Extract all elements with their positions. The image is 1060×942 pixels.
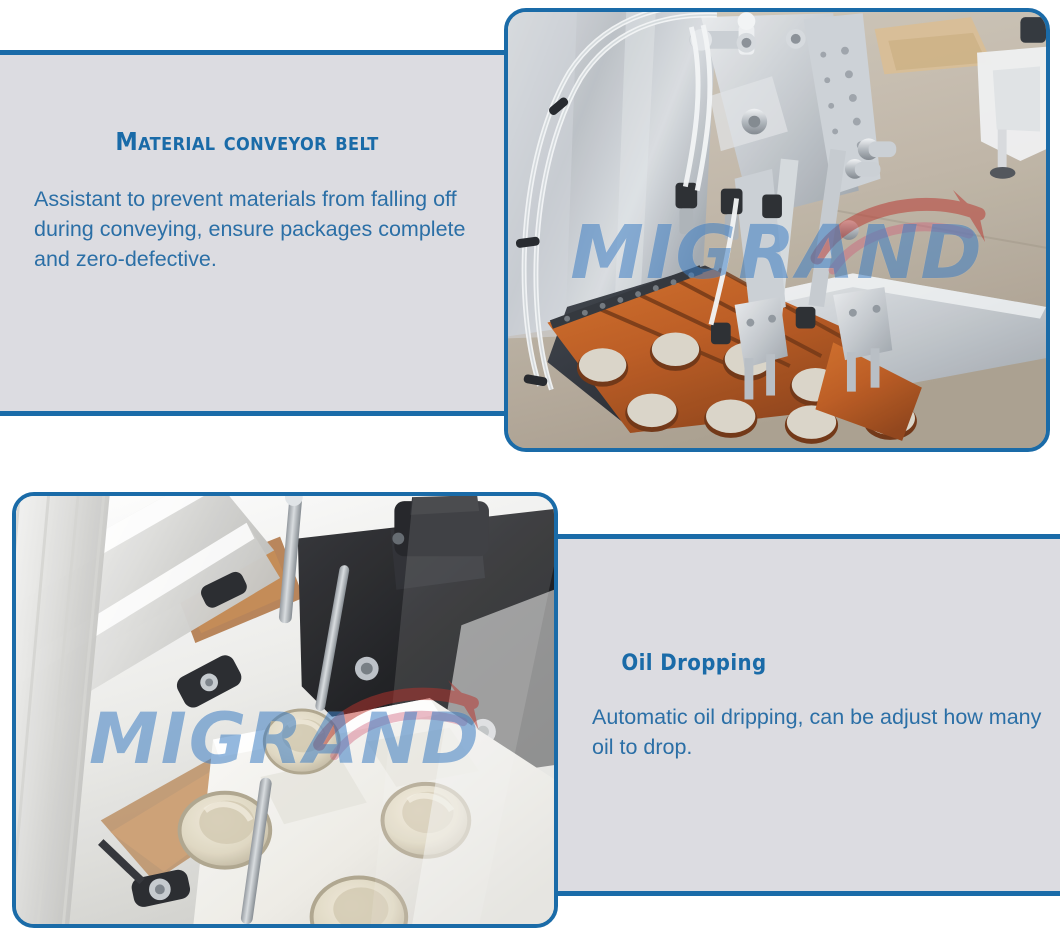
oil-dropping-machine-illustration (16, 496, 554, 924)
oil-dropping-photo: MIGRAND (12, 492, 558, 928)
material-conveyor-belt-photo: MIGRAND (504, 8, 1050, 452)
oil-dropping-title: Oil Dropping (556, 651, 1060, 676)
material-conveyor-belt-title: Material conveyor belt (0, 127, 510, 156)
material-conveyor-belt-description: Assistant to prevent materials from fall… (34, 184, 472, 274)
material-conveyor-belt-text-panel: Material conveyor belt Assistant to prev… (0, 50, 510, 416)
oil-dropping-text-panel: Oil Dropping Automatic oil dripping, can… (556, 534, 1060, 896)
conveyor-machine-illustration (508, 12, 1046, 448)
material-conveyor-belt-photo-inner (508, 12, 1046, 448)
oil-dropping-description: Automatic oil dripping, can be adjust ho… (592, 702, 1046, 762)
oil-dropping-photo-inner (16, 496, 554, 924)
